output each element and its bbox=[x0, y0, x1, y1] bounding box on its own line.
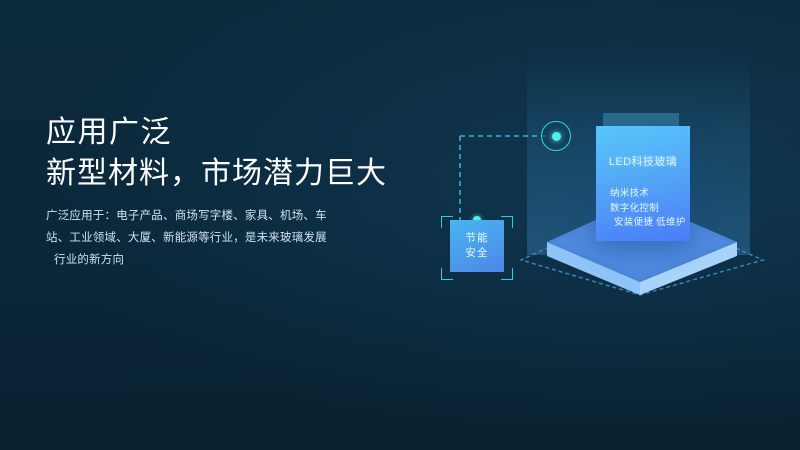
text-block: 应用广泛 新型材料，市场潜力巨大 广泛应用于：电子产品、商场写字楼、家具、机场、… bbox=[46, 112, 446, 271]
headline-line-1: 应用广泛 bbox=[46, 112, 446, 153]
product-card-feature-list: 纳米技术 数字化控制 安装便捷 低维护 bbox=[596, 187, 690, 231]
slide-canvas: 应用广泛 新型材料，市场潜力巨大 广泛应用于：电子产品、商场写字楼、家具、机场、… bbox=[0, 0, 800, 450]
product-card-title: LED科技玻璃 bbox=[609, 153, 677, 169]
product-card[interactable]: LED科技玻璃 纳米技术 数字化控制 安装便捷 低维护 bbox=[596, 126, 690, 241]
badge-label-line-1: 节能 bbox=[466, 231, 489, 246]
badge-card: 节能 安全 bbox=[450, 220, 504, 272]
feature-badge[interactable]: 节能 安全 bbox=[441, 212, 513, 280]
body-copy: 广泛应用于：电子产品、商场写字楼、家具、机场、车 站、工业领域、大厦、新能源等行… bbox=[46, 205, 366, 271]
product-feature-item: 纳米技术 bbox=[610, 187, 690, 202]
product-feature-item: 安装便捷 低维护 bbox=[610, 216, 690, 231]
badge-label-line-2: 安全 bbox=[466, 246, 489, 261]
body-copy-line-1: 广泛应用于：电子产品、商场写字楼、家具、机场、车 bbox=[46, 205, 366, 227]
headline-line-2: 新型材料，市场潜力巨大 bbox=[46, 153, 446, 194]
body-copy-line-2: 站、工业领域、大厦、新能源等行业，是未来玻璃发展 bbox=[46, 227, 366, 249]
connector-node-dot-icon bbox=[552, 132, 561, 141]
body-copy-line-3: 行业的新方向 bbox=[46, 249, 366, 271]
connector-node-icon bbox=[541, 121, 571, 151]
product-feature-item: 数字化控制 bbox=[610, 202, 690, 217]
